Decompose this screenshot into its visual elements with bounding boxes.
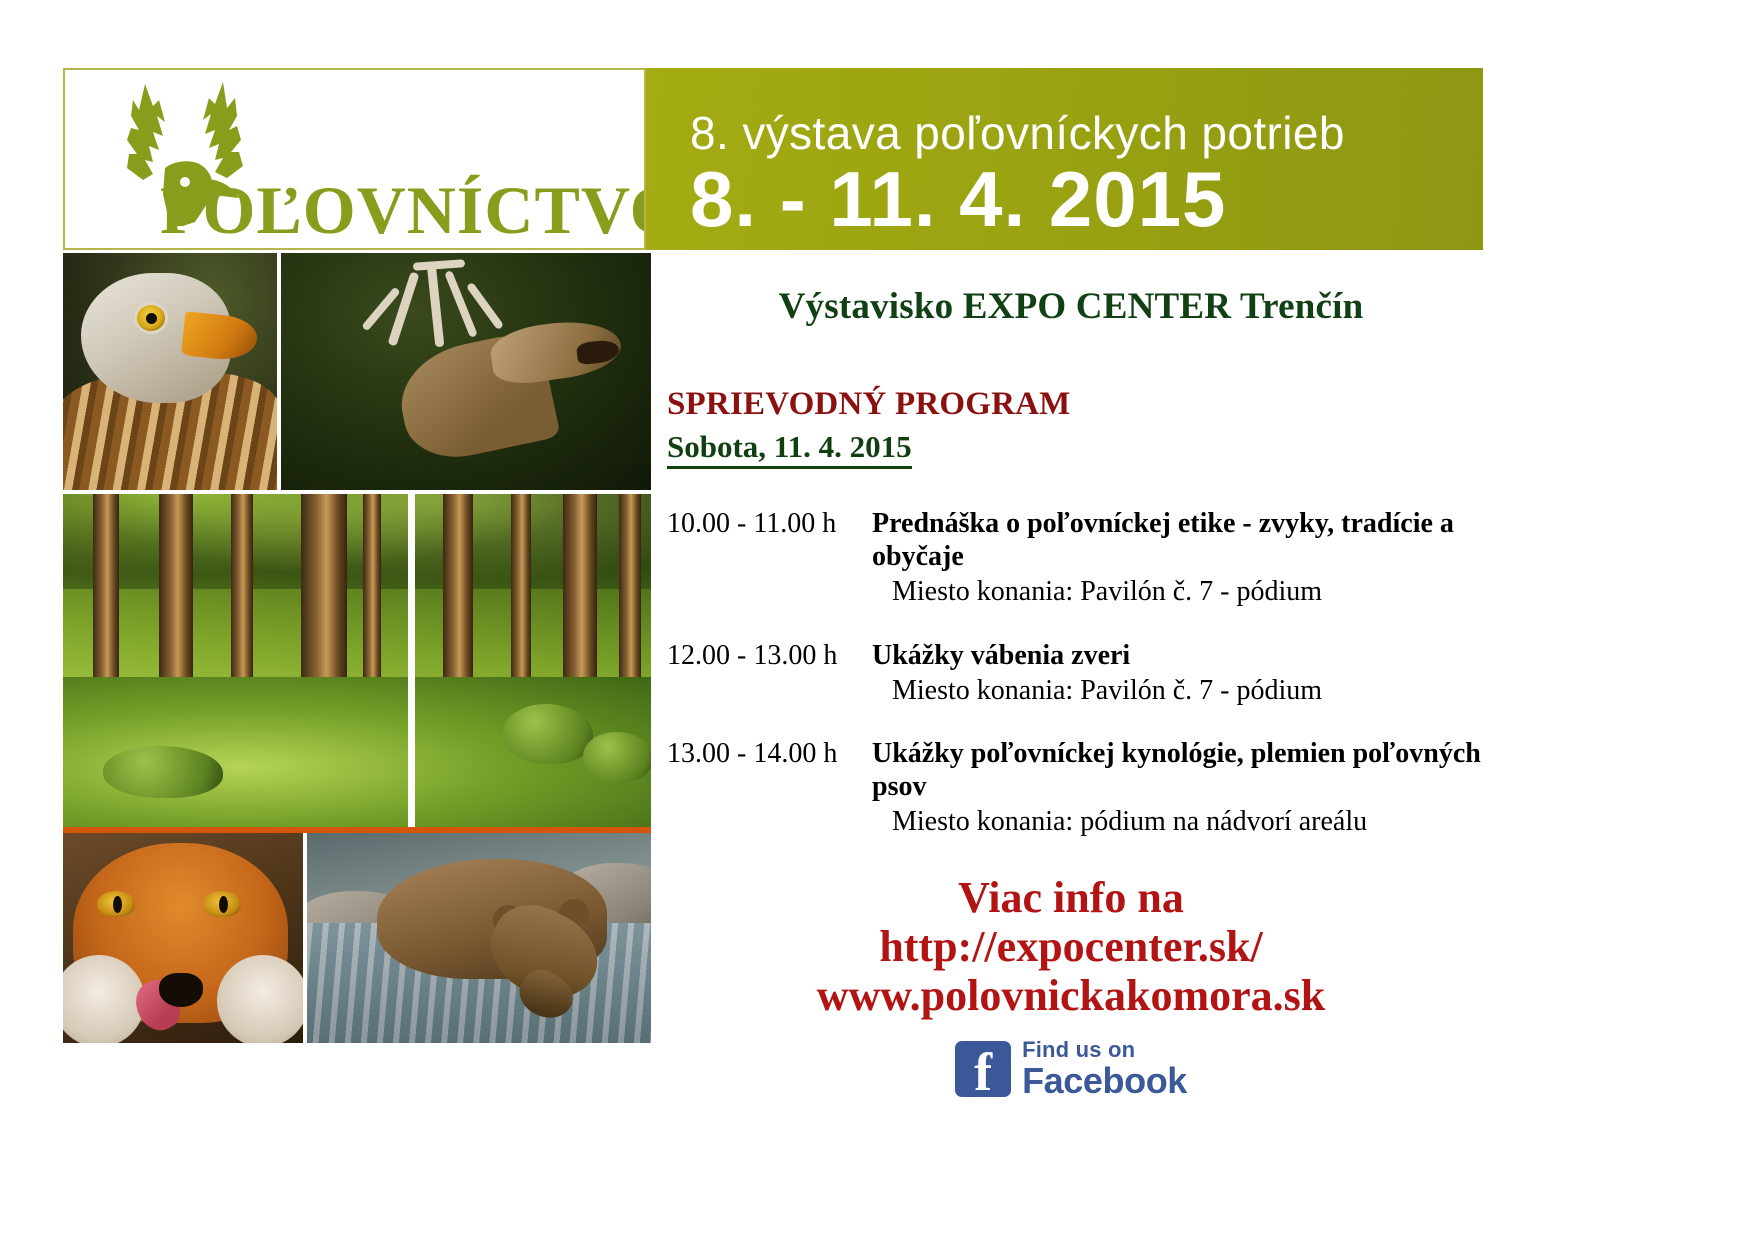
schedule-title: Ukážky poľovníckej kynológie, plemien po… bbox=[872, 737, 1483, 803]
schedule-row: 13.00 - 14.00 h Ukážky poľovníckej kynol… bbox=[667, 737, 1483, 839]
expocenter-url[interactable]: http://expocenter.sk/ bbox=[659, 922, 1483, 971]
schedule-time: 12.00 - 13.00 h bbox=[667, 639, 872, 708]
logo-wordmark: POĽOVNÍCTVO bbox=[160, 176, 646, 244]
content-column: Výstavisko EXPO CENTER Trenčín SPRIEVODN… bbox=[659, 253, 1483, 1043]
facebook-badge[interactable]: f Find us on Facebook bbox=[659, 1039, 1483, 1099]
schedule-title: Ukážky vábenia zveri bbox=[872, 639, 1483, 672]
poster-canvas: POĽOVNÍCTVO 8. výstava poľovníckych potr… bbox=[63, 68, 1483, 1043]
more-info-block: Viac info na http://expocenter.sk/ www.p… bbox=[659, 873, 1483, 1021]
schedule-row: 12.00 - 13.00 h Ukážky vábenia zveri Mie… bbox=[667, 639, 1483, 708]
schedule-details: Prednáška o poľovníckej etike - zvyky, t… bbox=[872, 507, 1483, 609]
eagle-photo bbox=[63, 253, 277, 490]
more-info-label: Viac info na bbox=[659, 873, 1483, 922]
schedule-time: 13.00 - 14.00 h bbox=[667, 737, 872, 839]
schedule-place: Miesto konania: pódium na nádvorí areálu bbox=[872, 803, 1483, 839]
venue-title: Výstavisko EXPO CENTER Trenčín bbox=[659, 253, 1483, 328]
schedule-row: 10.00 - 11.00 h Prednáška o poľovníckej … bbox=[667, 507, 1483, 609]
program-date: Sobota, 11. 4. 2015 bbox=[659, 423, 1483, 465]
program-date-text: Sobota, 11. 4. 2015 bbox=[667, 429, 912, 469]
schedule-time: 10.00 - 11.00 h bbox=[667, 507, 872, 609]
schedule-details: Ukážky poľovníckej kynológie, plemien po… bbox=[872, 737, 1483, 839]
facebook-find-us: Find us on bbox=[1022, 1039, 1187, 1061]
schedule-details: Ukážky vábenia zveri Miesto konania: Pav… bbox=[872, 639, 1483, 708]
banner-subtitle: 8. výstava poľovníckych potrieb bbox=[690, 106, 1345, 160]
schedule-list: 10.00 - 11.00 h Prednáška o poľovníckej … bbox=[659, 507, 1483, 839]
schedule-place: Miesto konania: Pavilón č. 7 - pódium bbox=[872, 672, 1483, 708]
schedule-title: Prednáška o poľovníckej etike - zvyky, t… bbox=[872, 507, 1483, 573]
photo-collage bbox=[63, 253, 651, 1043]
deer-photo bbox=[281, 253, 651, 490]
collage-vertical-divider bbox=[408, 494, 415, 827]
header-banner: 8. výstava poľovníckych potrieb 8. - 11.… bbox=[646, 68, 1483, 250]
facebook-text: Find us on Facebook bbox=[1022, 1039, 1187, 1099]
polovnickakomora-url[interactable]: www.polovnickakomora.sk bbox=[659, 971, 1483, 1020]
banner-dates: 8. - 11. 4. 2015 bbox=[690, 160, 1226, 238]
facebook-wordmark: Facebook bbox=[1022, 1063, 1187, 1099]
fox-photo bbox=[63, 833, 303, 1043]
program-heading: SPRIEVODNÝ PROGRAM bbox=[659, 328, 1483, 423]
logo-box: POĽOVNÍCTVO bbox=[63, 68, 646, 250]
schedule-place: Miesto konania: Pavilón č. 7 - pódium bbox=[872, 573, 1483, 609]
poster-header: POĽOVNÍCTVO 8. výstava poľovníckych potr… bbox=[63, 68, 1483, 250]
bear-photo bbox=[307, 833, 651, 1043]
facebook-logo-letter: f bbox=[955, 1045, 1011, 1099]
facebook-icon[interactable]: f bbox=[955, 1041, 1011, 1097]
forest-photo bbox=[63, 494, 651, 827]
